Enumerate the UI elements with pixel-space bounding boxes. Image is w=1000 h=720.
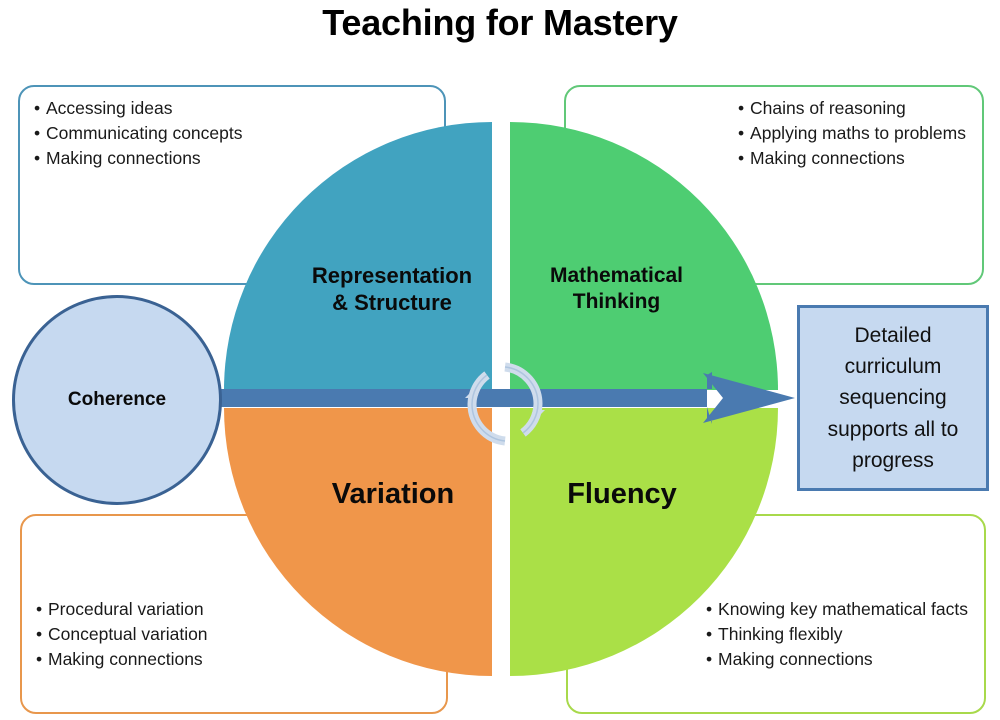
list-item: Making connections [34,146,242,171]
quadrant-fluency [510,408,778,676]
list-item: Chains of reasoning [738,96,966,121]
mastery-wheel: Representation & Structure Mathematical … [224,122,778,676]
quadrant-fill [224,122,492,390]
quadrant-fill [510,122,778,390]
quadrant-fill [510,408,778,676]
quadrant-mathematical-thinking [510,122,778,390]
quadrant-label-mathematical-thinking: Mathematical Thinking [514,263,719,314]
list-item: Making connections [36,647,208,672]
callout-list: Accessing ideas Communicating concepts M… [34,96,242,171]
callout-list: Procedural variation Conceptual variatio… [36,597,208,672]
coherence-circle: Coherence [12,295,222,505]
list-item: Conceptual variation [36,622,208,647]
list-item: Communicating concepts [34,121,242,146]
quadrant-fill [224,408,492,676]
list-item: Procedural variation [36,597,208,622]
quadrant-label-variation: Variation [280,477,506,512]
quadrant-representation-structure [224,122,492,390]
quadrant-variation [224,408,492,676]
quadrant-label-fluency: Fluency [514,477,730,512]
coherence-label: Coherence [68,389,166,411]
list-item: Accessing ideas [34,96,242,121]
diagram-canvas: Teaching for Mastery Accessing ideas Com… [0,0,1000,720]
outcome-box: Detailed curriculum sequencing supports … [797,305,989,491]
page-title: Teaching for Mastery [0,2,1000,44]
outcome-text: Detailed curriculum sequencing supports … [800,320,986,476]
quadrant-label-representation-structure: Representation & Structure [284,263,500,317]
